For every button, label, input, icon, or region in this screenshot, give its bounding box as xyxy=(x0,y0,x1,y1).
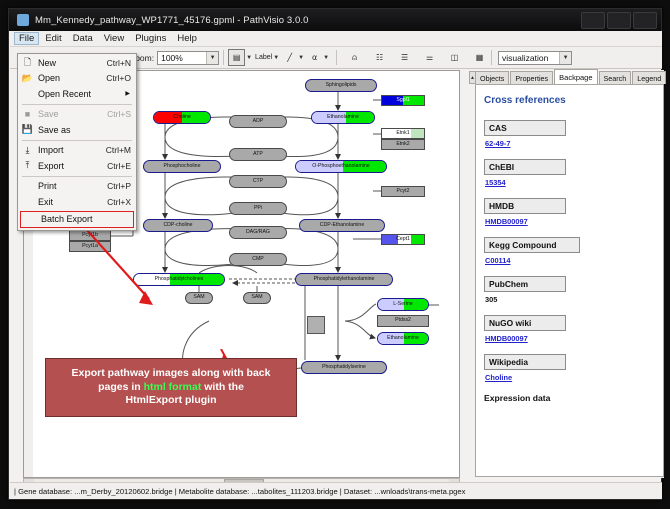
xref-label-nugo-wiki: NuGO wiki xyxy=(484,315,566,331)
import-icon: ⤓ xyxy=(20,144,35,157)
callout-line-3: HtmlExport plugin xyxy=(126,394,217,406)
file-menu-item-shortcut: Ctrl+X xyxy=(107,197,131,207)
toolbar-separator xyxy=(223,50,224,65)
menu-separator xyxy=(22,104,132,105)
tab-legend[interactable]: Legend xyxy=(632,71,666,84)
file-menu-item-shortcut: Ctrl+O xyxy=(106,73,131,83)
xref-label-kegg-compound: Kegg Compound xyxy=(484,237,580,253)
toolbar-separator xyxy=(336,50,337,65)
file-menu-item-exit[interactable]: ExitCtrl+X xyxy=(18,194,136,210)
file-menu-item-batch-export[interactable]: Batch Export xyxy=(20,211,134,228)
window-controls xyxy=(581,12,661,29)
menu-item-no-icon xyxy=(20,87,35,100)
menu-item-no-icon xyxy=(20,195,35,208)
file-menu-item-label: Save as xyxy=(38,125,71,135)
menu-help[interactable]: Help xyxy=(172,32,202,45)
callout-line-1: Export pathway images along with back xyxy=(72,367,271,379)
file-menu-item-print[interactable]: PrintCtrl+P xyxy=(18,179,136,195)
file-menu-item-label: Save xyxy=(38,109,59,119)
annotation-callout: Export pathway images along with back pa… xyxy=(45,358,297,417)
cross-references-heading: Cross references xyxy=(484,95,655,106)
export-icon: ⤒ xyxy=(20,159,35,172)
menu-data[interactable]: Data xyxy=(68,32,98,45)
file-menu-item-import[interactable]: ⤓ImportCtrl+M xyxy=(18,143,136,159)
tab-properties[interactable]: Properties xyxy=(510,71,553,84)
xref-label-wikipedia: Wikipedia xyxy=(484,354,566,370)
xref-value-pubchem: 305 xyxy=(484,295,655,304)
save-icon: ■ xyxy=(20,108,35,121)
xref-label-cas: CAS xyxy=(484,120,566,136)
callout-line-2-prefix: pages in xyxy=(98,381,144,393)
file-menu-item-label: Open xyxy=(38,73,60,83)
status-bar: | Gene database: ...m_Derby_20120602.bri… xyxy=(10,482,662,499)
label-button[interactable]: Label xyxy=(255,54,272,61)
xref-label-hmdb: HMDB xyxy=(484,198,566,214)
cross-reference-list: CAS62-49-7ChEBI15354HMDBHMDB00097Kegg Co… xyxy=(484,120,655,382)
file-menu-popup[interactable]: 🗋NewCtrl+N📂OpenCtrl+OOpen Recent▶■SaveCt… xyxy=(17,53,137,231)
file-menu-item-save-as[interactable]: 💾Save as xyxy=(18,122,136,138)
screenshot-root: Mm_Kennedy_pathway_WP1771_45176.gpml - P… xyxy=(0,0,670,509)
menu-item-no-icon xyxy=(23,213,38,226)
menu-edit[interactable]: Edit xyxy=(40,32,66,45)
file-menu-item-shortcut: Ctrl+S xyxy=(107,109,131,119)
chevron-down-icon[interactable]: ▼ xyxy=(273,55,279,61)
zoom-combobox[interactable]: 100% ▼ xyxy=(157,51,219,65)
file-menu-item-open[interactable]: 📂OpenCtrl+O xyxy=(18,71,136,87)
tab-backpage[interactable]: Backpage xyxy=(554,69,597,84)
xref-value-nugo-wiki[interactable]: HMDB00097 xyxy=(484,334,655,343)
file-menu-item-new[interactable]: 🗋NewCtrl+N xyxy=(18,55,136,71)
close-button[interactable] xyxy=(633,12,657,29)
menu-item-no-icon xyxy=(20,180,35,193)
file-menu-item-shortcut: Ctrl+N xyxy=(107,58,131,68)
chevron-down-icon[interactable]: ▼ xyxy=(246,55,252,61)
visualization-combobox[interactable]: visualization ▼ xyxy=(498,51,572,65)
datanode-button[interactable]: ▤ xyxy=(228,49,245,66)
application-window: Mm_Kennedy_pathway_WP1771_45176.gpml - P… xyxy=(8,8,662,500)
zoom-value: 100% xyxy=(161,53,183,63)
file-menu-item-open-recent[interactable]: Open Recent▶ xyxy=(18,86,136,102)
group-button[interactable]: ▦ xyxy=(472,50,487,65)
minimize-button[interactable] xyxy=(581,12,605,29)
file-menu-item-shortcut: Ctrl+M xyxy=(106,145,131,155)
file-menu-item-export[interactable]: ⤒ExportCtrl+E xyxy=(18,158,136,174)
file-menu-item-label: Batch Export xyxy=(41,214,93,224)
file-menu-item-label: Export xyxy=(38,161,64,171)
callout-line-2-suffix: with the xyxy=(201,381,244,393)
xref-value-hmdb[interactable]: HMDB00097 xyxy=(484,217,655,226)
chevron-down-icon: ▼ xyxy=(559,52,571,64)
side-panel: ▲ ObjectsPropertiesBackpageSearchLegend … xyxy=(469,70,664,478)
backpage-content[interactable]: Cross references CAS62-49-7ChEBI15354HMD… xyxy=(475,84,664,477)
toolbar-separator xyxy=(491,50,492,65)
status-text: | Gene database: ...m_Derby_20120602.bri… xyxy=(14,487,465,496)
save-as-icon: 💾 xyxy=(20,123,35,136)
maximize-button[interactable] xyxy=(607,12,631,29)
expression-data-heading: Expression data xyxy=(484,393,655,403)
xref-value-kegg-compound[interactable]: C00114 xyxy=(484,256,655,265)
chevron-down-icon: ▼ xyxy=(206,52,218,64)
menu-view[interactable]: View xyxy=(99,32,129,45)
xref-label-chebi: ChEBI xyxy=(484,159,566,175)
distribute-horizontal-button[interactable]: ⚌ xyxy=(422,50,437,65)
xref-label-pubchem: PubChem xyxy=(484,276,566,292)
file-menu-item-shortcut: Ctrl+P xyxy=(107,181,131,191)
chevron-right-icon: ▶ xyxy=(125,90,130,97)
file-menu-item-label: Exit xyxy=(38,197,53,207)
folder-open-icon: 📂 xyxy=(20,72,35,85)
menu-separator xyxy=(22,176,132,177)
xref-value-cas[interactable]: 62-49-7 xyxy=(484,139,655,148)
tab-search[interactable]: Search xyxy=(599,71,632,84)
app-icon xyxy=(17,14,29,26)
menu-plugins[interactable]: Plugins xyxy=(130,32,171,45)
align-left-button[interactable]: ☰ xyxy=(397,50,412,65)
file-menu-item-shortcut: Ctrl+E xyxy=(107,161,131,171)
xref-value-wikipedia[interactable]: Choline xyxy=(484,373,655,382)
callout-highlight: html format xyxy=(144,381,202,393)
align-center-button[interactable]: ⍝ xyxy=(347,50,362,65)
window-title: Mm_Kennedy_pathway_WP1771_45176.gpml - P… xyxy=(35,15,309,26)
side-panel-tabs: ObjectsPropertiesBackpageSearchLegend xyxy=(475,70,664,84)
file-menu-item-label: Import xyxy=(38,145,64,155)
new-file-icon: 🗋 xyxy=(20,56,35,69)
align-top-button[interactable]: ☷ xyxy=(372,50,387,65)
file-menu-item-label: Print xyxy=(38,181,57,191)
annotation-callout-text: Export pathway images along with back pa… xyxy=(72,367,271,407)
file-menu-item-label: New xyxy=(38,58,56,68)
chevron-down-icon[interactable]: ▼ xyxy=(298,55,304,61)
file-menu-item-save: ■SaveCtrl+S xyxy=(18,107,136,123)
anchor-shape-button[interactable]: ⍺ xyxy=(307,50,322,65)
xref-value-chebi[interactable]: 15354 xyxy=(484,178,655,187)
file-menu-item-label: Open Recent xyxy=(38,89,91,99)
title-bar: Mm_Kennedy_pathway_WP1771_45176.gpml - P… xyxy=(9,9,661,31)
visualization-value: visualization xyxy=(502,53,548,63)
tab-objects[interactable]: Objects xyxy=(475,71,509,84)
line-button[interactable]: ╱ xyxy=(282,50,297,65)
stack-button[interactable]: ◫ xyxy=(447,50,462,65)
menu-file[interactable]: File xyxy=(14,32,39,45)
menu-bar: File Edit Data View Plugins Help xyxy=(10,31,662,47)
menu-separator xyxy=(22,140,132,141)
chevron-down-icon[interactable]: ▼ xyxy=(323,55,329,61)
